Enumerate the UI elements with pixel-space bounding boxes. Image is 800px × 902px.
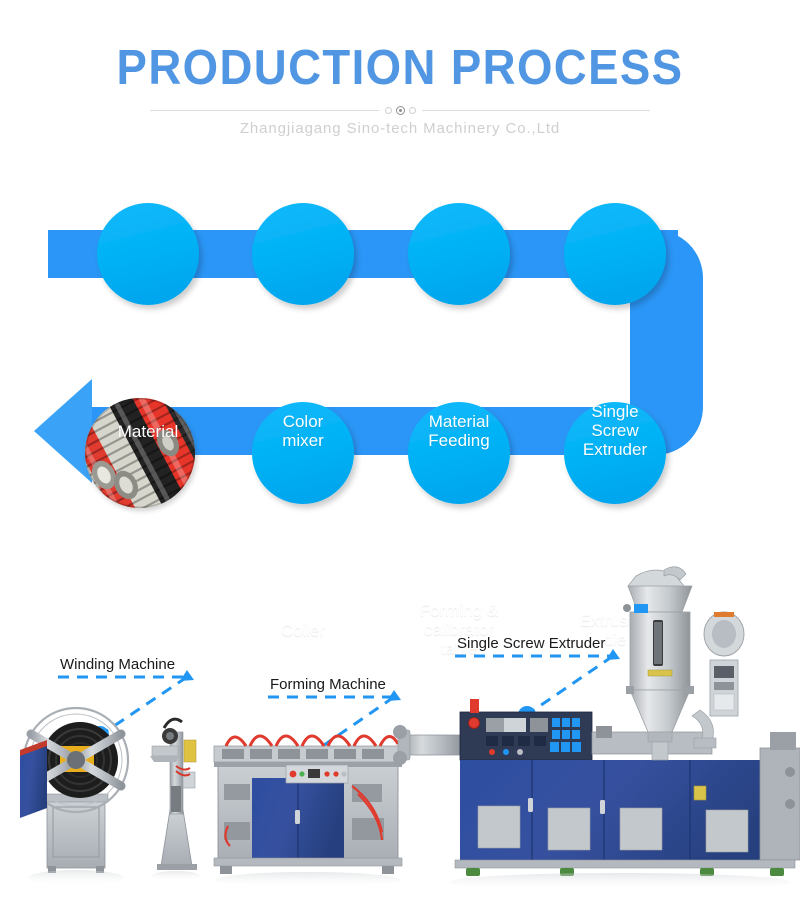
- callout-label-single-screw-extruder: Single Screw Extruder: [457, 635, 605, 652]
- page-title: PRODUCTION PROCESS: [28, 40, 772, 96]
- hopper-dryer: [623, 567, 744, 760]
- flow-node-single-screw-extruder[interactable]: [564, 203, 666, 305]
- divider-dots: [379, 106, 422, 115]
- callout-label-forming-machine: Forming Machine: [270, 676, 386, 693]
- callout-leader-extruder: [528, 656, 613, 714]
- machine-photo-panel: Winding Machine Forming Machine Single S…: [0, 560, 800, 902]
- flow-node-coiler[interactable]: [252, 402, 354, 504]
- forming-machine-hoses: [226, 736, 398, 746]
- divider-dot-center-icon: [396, 106, 405, 115]
- divider-dot-left-icon: [385, 107, 392, 114]
- divider-rule-left: [150, 110, 379, 111]
- flow-node-forming-calibrator-table[interactable]: [408, 402, 510, 504]
- flow-node-material-feeding[interactable]: [408, 203, 510, 305]
- guide-stand-photo: [150, 719, 200, 881]
- output-arrow-left-icon: [34, 379, 92, 483]
- flow-node-color-mixer[interactable]: [252, 203, 354, 305]
- flow-node-extrusion-die[interactable]: [564, 402, 666, 504]
- company-subtitle: Zhangjiagang Sino-tech Machinery Co.,Ltd: [0, 120, 800, 137]
- process-flow-diagram: Material Color mixer Material Feeding Si…: [0, 175, 800, 530]
- single-screw-extruder-photo: [393, 567, 800, 891]
- divider-rule-right: [422, 110, 651, 111]
- divider-dot-right-icon: [409, 107, 416, 114]
- title-divider: [150, 104, 650, 116]
- flow-node-material[interactable]: [97, 203, 199, 305]
- winding-machine-photo: [20, 708, 128, 886]
- forming-machine-photo: [214, 736, 402, 888]
- callout-label-winding-machine: Winding Machine: [60, 656, 175, 673]
- production-process-page: PRODUCTION PROCESS Zhangjiagang Sino-tec…: [0, 0, 800, 902]
